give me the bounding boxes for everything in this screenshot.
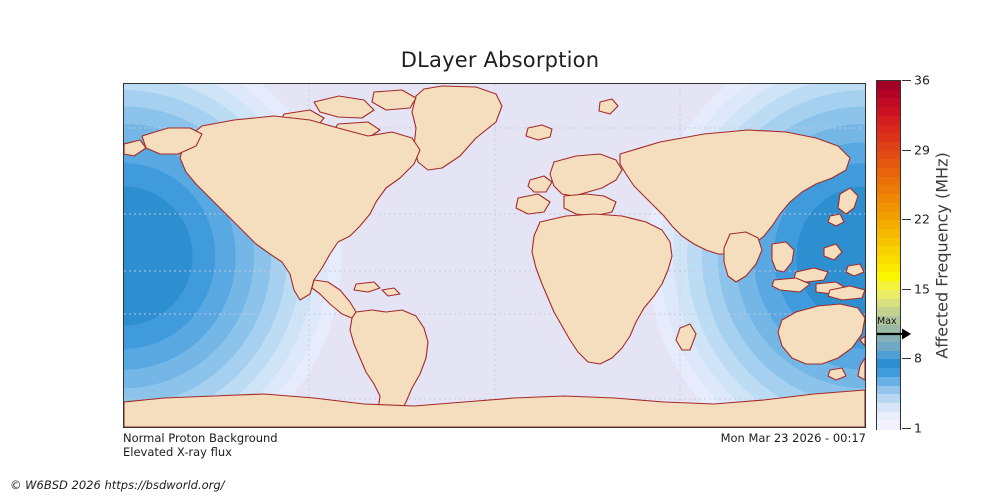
colorbar-band [877,420,900,429]
figure-canvas: DLayer Absorption [0,0,1000,500]
annotation-xray-flux: Elevated X-ray flux [123,445,232,459]
colorbar-max-annotation: Max [876,316,936,346]
colorbar-tick-mark [902,358,911,359]
colorbar-tick-mark [902,428,911,429]
colorbar-tick-mark [902,289,911,290]
timestamp: Mon Mar 23 2026 - 00:17 [721,431,866,445]
max-arrow-icon [876,326,912,342]
colorbar-tick-mark [902,150,911,151]
world-landmasses [124,84,865,427]
colorbar[interactable]: 3629221581 [876,80,901,430]
colorbar-tick-label: 1 [914,421,922,436]
annotation-proton-background: Normal Proton Background [123,431,278,445]
colorbar-tick-mark [902,219,911,220]
page-title: DLayer Absorption [0,48,1000,72]
map-axes[interactable] [123,83,866,428]
colorbar-tick-label: 8 [914,351,922,366]
colorbar-tick-label: 29 [914,142,930,157]
copyright-notice: © W6BSD 2026 https://bsdworld.org/ [10,478,225,492]
colorbar-axis-label: Affected Frequency (MHz) [931,80,953,430]
map-inner [124,84,865,427]
colorbar-tick-mark [902,80,911,81]
colorbar-tick-label: 22 [914,212,930,227]
colorbar-tick-label: 36 [914,73,930,88]
colorbar-gradient-strip [876,80,901,430]
colorbar-tick-label: 15 [914,281,930,296]
